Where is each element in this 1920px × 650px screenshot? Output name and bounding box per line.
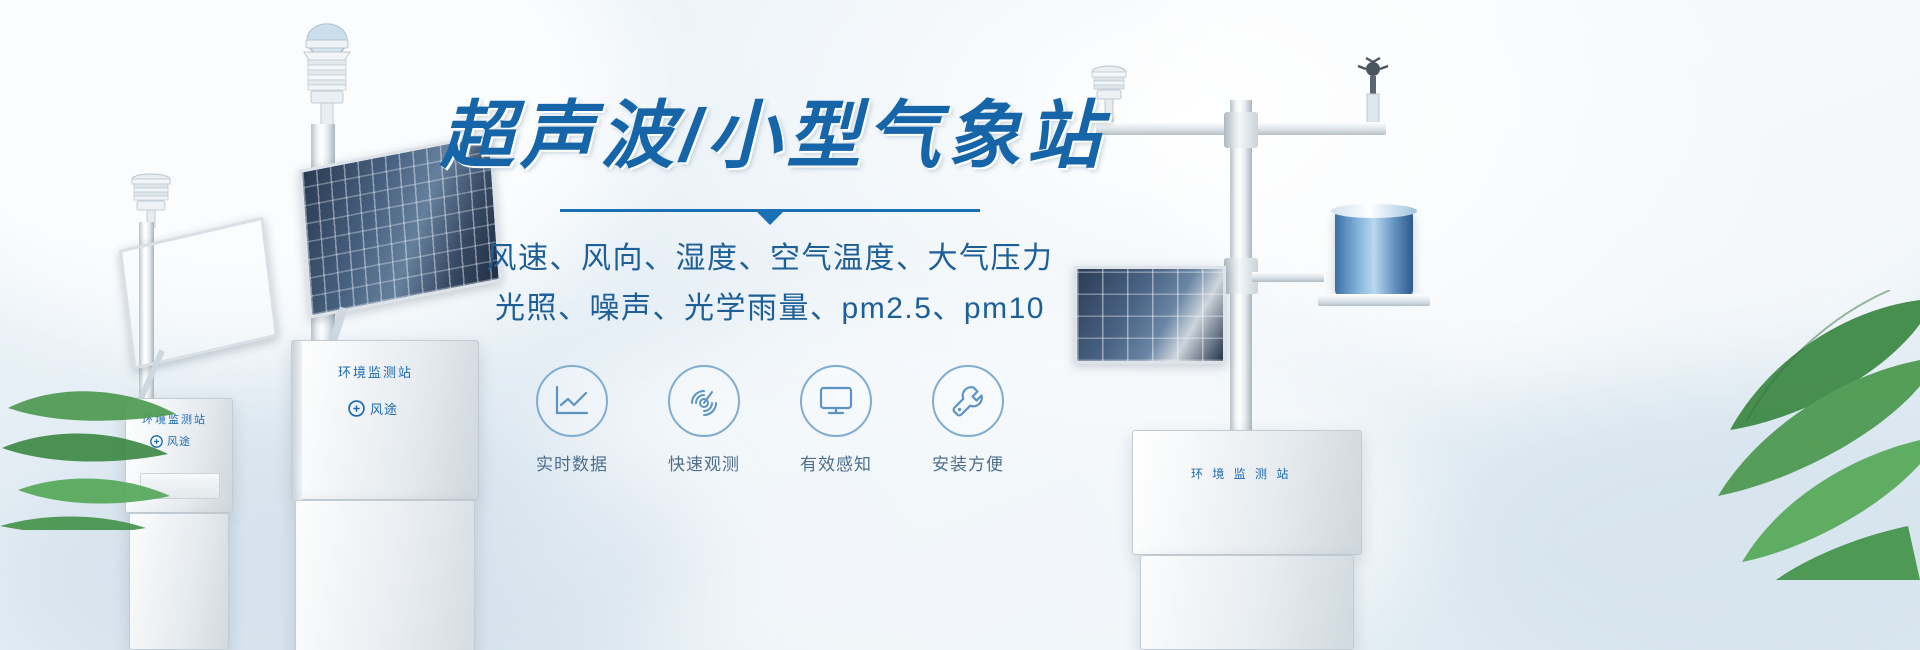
right-lower-cabinet xyxy=(1140,555,1354,650)
feature-icon-circle xyxy=(536,365,608,437)
feature-item-fast-observation[interactable]: 快速观测 xyxy=(662,365,746,475)
fengtu-logo-icon xyxy=(348,400,365,417)
subtitle-line-1: 风速、风向、湿度、空气温度、大气压力 xyxy=(440,236,1100,282)
right-weather-station: 环 境 监 测 站 xyxy=(1060,40,1460,650)
wind-vane-icon xyxy=(1350,56,1396,126)
feature-label: 快速观测 xyxy=(662,450,746,475)
rain-gauge-icon xyxy=(290,20,364,130)
product-banner: 环境监测站 风途 xyxy=(0,0,1920,650)
banner-content: 超声波/小型气象站 风速、风向、湿度、空气温度、大气压力 光照、噪声、光学雨量、… xyxy=(440,96,1100,475)
feature-icon-circle xyxy=(800,365,872,437)
page-title: 超声波/小型气象站 xyxy=(440,96,1100,176)
center-cabinet-label: 环境监测站 xyxy=(338,362,413,381)
feature-label: 安装方便 xyxy=(926,450,1010,475)
center-cabinet-hinge xyxy=(292,341,302,501)
subtitle-line-2: 光照、噪声、光学雨量、pm2.5、pm10 xyxy=(440,286,1100,332)
feature-label: 有效感知 xyxy=(794,450,878,475)
feature-icon-circle xyxy=(668,365,740,437)
rain-bucket-shelf xyxy=(1318,294,1430,306)
feature-list: 实时数据 快速观测 xyxy=(440,365,1100,475)
rain-bucket-icon xyxy=(1335,210,1413,296)
feature-item-realtime-data[interactable]: 实时数据 xyxy=(530,365,614,475)
line-chart-icon xyxy=(553,384,591,418)
feature-label: 实时数据 xyxy=(530,450,614,475)
rain-bucket-arm xyxy=(1252,272,1324,282)
triangle-down-icon xyxy=(757,212,783,225)
wrench-icon xyxy=(949,382,987,420)
radar-signal-icon xyxy=(685,382,723,420)
center-lower-cabinet xyxy=(295,500,475,650)
left-lower-cabinet xyxy=(129,513,229,650)
center-cabinet-brand: 风途 xyxy=(370,399,398,418)
rain-bucket-rim xyxy=(1331,204,1417,218)
feature-item-effective-sensing[interactable]: 有效感知 xyxy=(794,365,878,475)
right-cabinet-label: 环 境 监 测 站 xyxy=(1191,465,1291,482)
feature-icon-circle xyxy=(932,365,1004,437)
monitor-icon xyxy=(817,384,855,418)
ultrasonic-sensor-icon xyxy=(121,170,181,228)
right-mast-collar xyxy=(1224,112,1258,148)
leaf-decoration-right xyxy=(1590,290,1920,580)
right-cabinet: 环 境 监 测 站 xyxy=(1132,430,1362,555)
leaf-decoration-left xyxy=(0,330,230,530)
title-divider xyxy=(440,198,1100,222)
feature-item-easy-install[interactable]: 安装方便 xyxy=(926,365,1010,475)
